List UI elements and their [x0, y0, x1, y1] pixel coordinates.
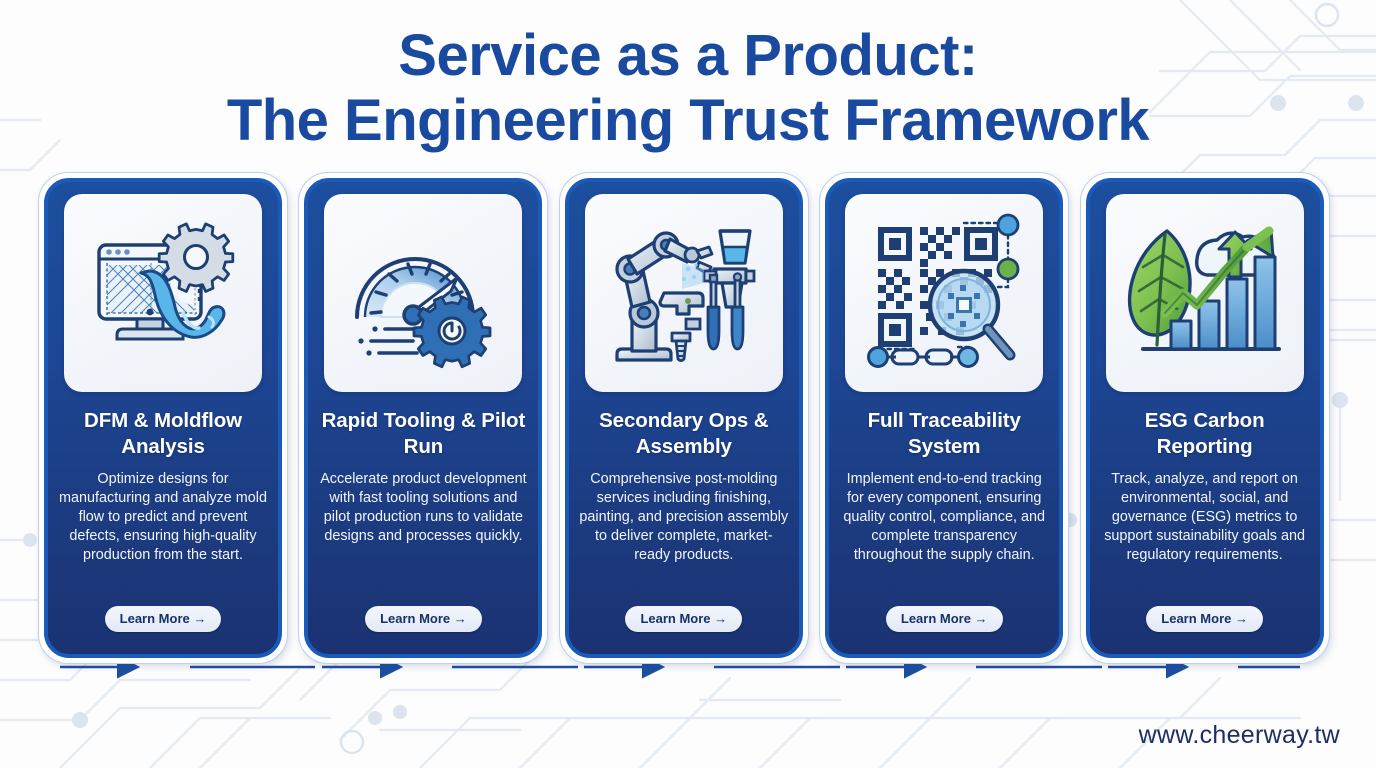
- card-slot-2: Rapid Tooling & Pilot Run Accelerate pro…: [298, 172, 558, 664]
- card-description: Accelerate product development with fast…: [308, 470, 538, 606]
- card-slot-4: Full Traceability System Implement end-t…: [819, 172, 1079, 664]
- leaf-cloud-growth-chart-icon: [1106, 194, 1304, 392]
- speed-gauge-gear-icon: [324, 194, 522, 392]
- card-description: Comprehensive post-molding services incl…: [569, 470, 799, 606]
- card-title: ESG Carbon Reporting: [1090, 408, 1320, 460]
- learn-more-button[interactable]: Learn More →: [886, 606, 1003, 632]
- service-card-rapid-tooling[interactable]: Rapid Tooling & Pilot Run Accelerate pro…: [298, 172, 548, 664]
- learn-more-button[interactable]: Learn More →: [365, 606, 482, 632]
- service-card-esg-carbon[interactable]: ESG Carbon Reporting Track, analyze, and…: [1080, 172, 1330, 664]
- qr-code-magnifier-chain-icon: [845, 194, 1043, 392]
- card-title: Full Traceability System: [829, 408, 1059, 460]
- title-line-2: The Engineering Trust Framework: [0, 91, 1376, 150]
- learn-more-button[interactable]: Learn More →: [1146, 606, 1263, 632]
- learn-more-button[interactable]: Learn More →: [625, 606, 742, 632]
- card-slot-1: DFM & Moldflow Analysis Optimize designs…: [38, 172, 298, 664]
- card-description: Optimize designs for manufacturing and a…: [48, 470, 278, 606]
- card-slot-5: ESG Carbon Reporting Track, analyze, and…: [1080, 172, 1340, 664]
- service-cards-row: DFM & Moldflow Analysis Optimize designs…: [38, 172, 1340, 664]
- title-line-1: Service as a Product:: [0, 26, 1376, 85]
- learn-more-button[interactable]: Learn More →: [105, 606, 222, 632]
- service-card-dfm-moldflow[interactable]: DFM & Moldflow Analysis Optimize designs…: [38, 172, 288, 664]
- card-description: Implement end-to-end tracking for every …: [829, 470, 1059, 606]
- robot-arm-spray-tools-icon: [585, 194, 783, 392]
- footer-website-url[interactable]: www.cheerway.tw: [1139, 721, 1340, 750]
- page-title: Service as a Product: The Engineering Tr…: [0, 26, 1376, 150]
- card-title: DFM & Moldflow Analysis: [48, 408, 278, 460]
- service-card-secondary-ops[interactable]: Secondary Ops & Assembly Comprehensive p…: [559, 172, 809, 664]
- card-title: Secondary Ops & Assembly: [569, 408, 799, 460]
- service-card-traceability[interactable]: Full Traceability System Implement end-t…: [819, 172, 1069, 664]
- moldflow-simulation-icon: [64, 194, 262, 392]
- card-description: Track, analyze, and report on environmen…: [1090, 470, 1320, 606]
- card-title: Rapid Tooling & Pilot Run: [308, 408, 538, 460]
- card-slot-3: Secondary Ops & Assembly Comprehensive p…: [559, 172, 819, 664]
